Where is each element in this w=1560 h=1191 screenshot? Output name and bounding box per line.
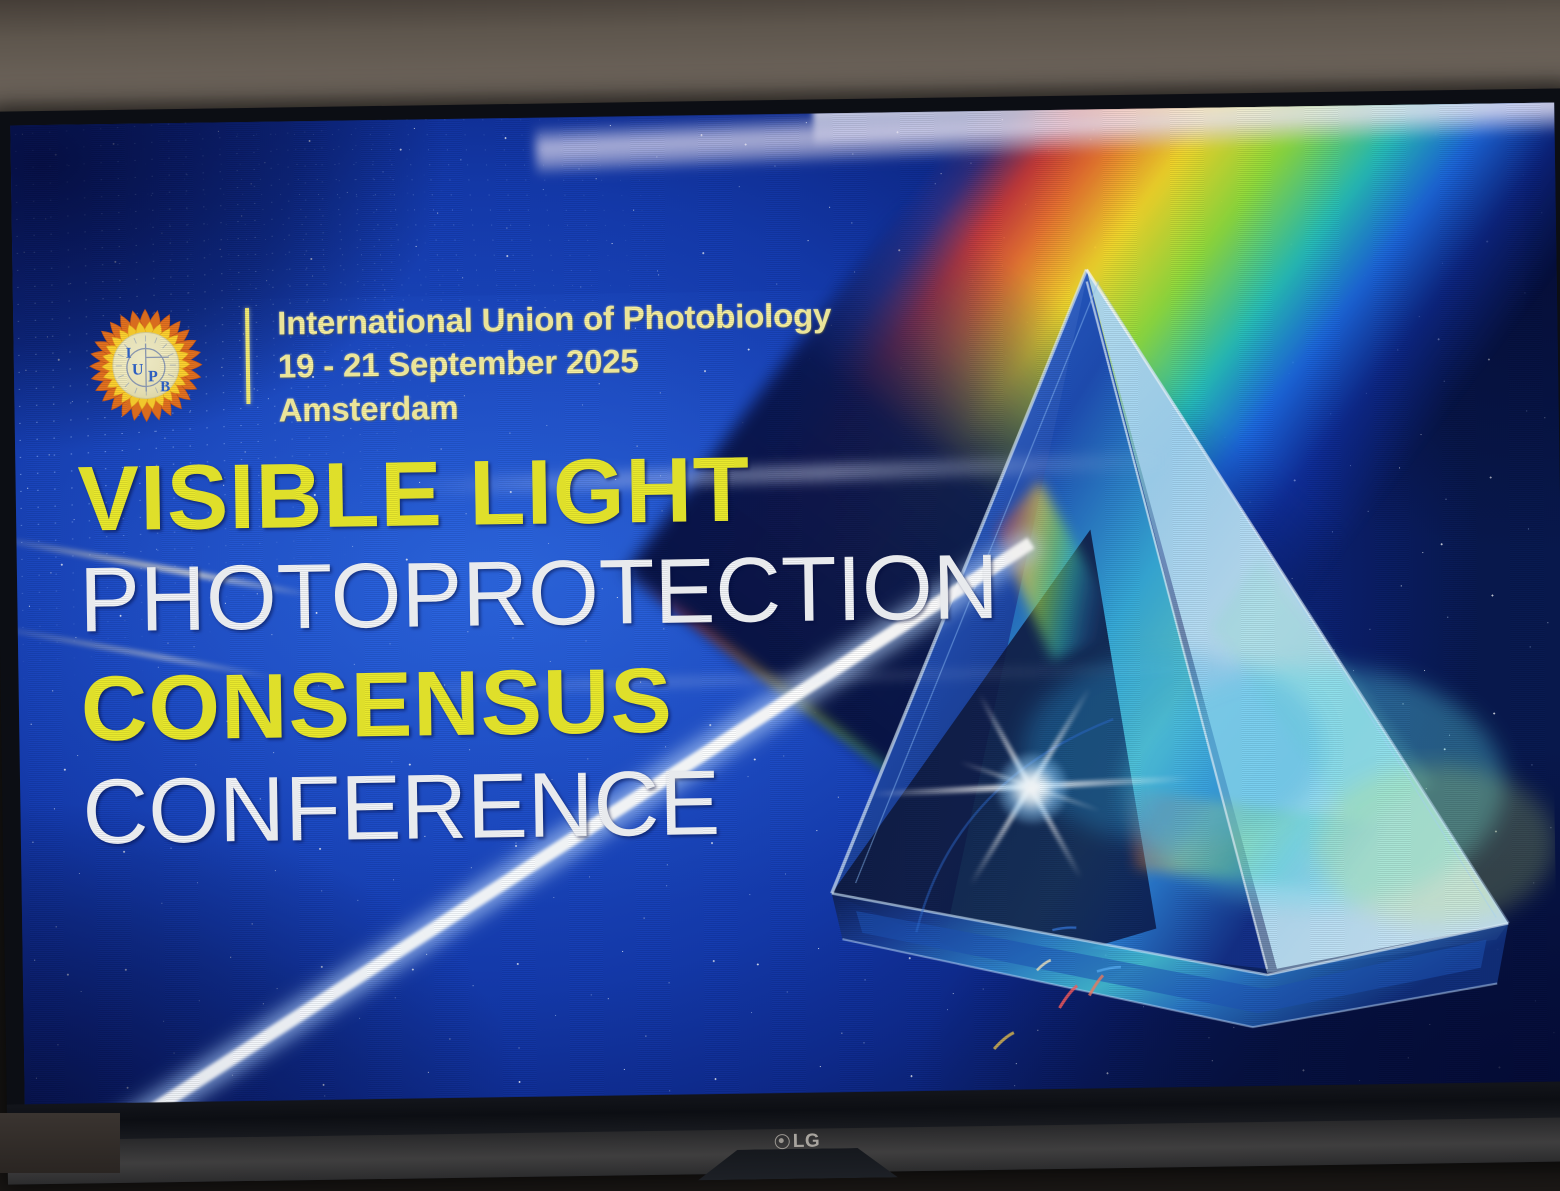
slide-title: VISIBLE LIGHT PHOTOPROTECTION CONSENSUS … (77, 441, 1011, 859)
lg-brand-badge: LG (775, 1132, 821, 1152)
org-name: International Union of Photobiology (277, 294, 831, 344)
header-divider (245, 308, 250, 404)
lens-flare-burst (1030, 786, 1034, 790)
event-city: Amsterdam (278, 381, 832, 431)
television: I U P B International Union of Photobiol… (0, 88, 1560, 1184)
svg-text:P: P (148, 368, 158, 385)
title-line-photoprotection: PHOTOPROTECTION (79, 542, 1000, 647)
title-line-visible-light: VISIBLE LIGHT (77, 441, 1007, 546)
header-text-block: International Union of Photobiology 19 -… (277, 288, 833, 431)
lg-circle-icon (775, 1134, 790, 1149)
iupb-sun-logo: I U P B (75, 294, 217, 436)
svg-text:U: U (132, 361, 144, 378)
tv-screen: I U P B International Union of Photobiol… (10, 103, 1560, 1107)
title-line-consensus: CONSENSUS (80, 651, 1010, 756)
wall-lower-left (0, 1113, 120, 1173)
slide-header: I U P B International Union of Photobiol… (75, 285, 833, 436)
svg-text:B: B (160, 379, 170, 395)
svg-text:I: I (126, 346, 132, 362)
event-dates: 19 - 21 September 2025 (278, 337, 832, 387)
lg-wordmark: LG (793, 1132, 821, 1151)
title-line-conference: CONFERENCE (82, 754, 1003, 859)
